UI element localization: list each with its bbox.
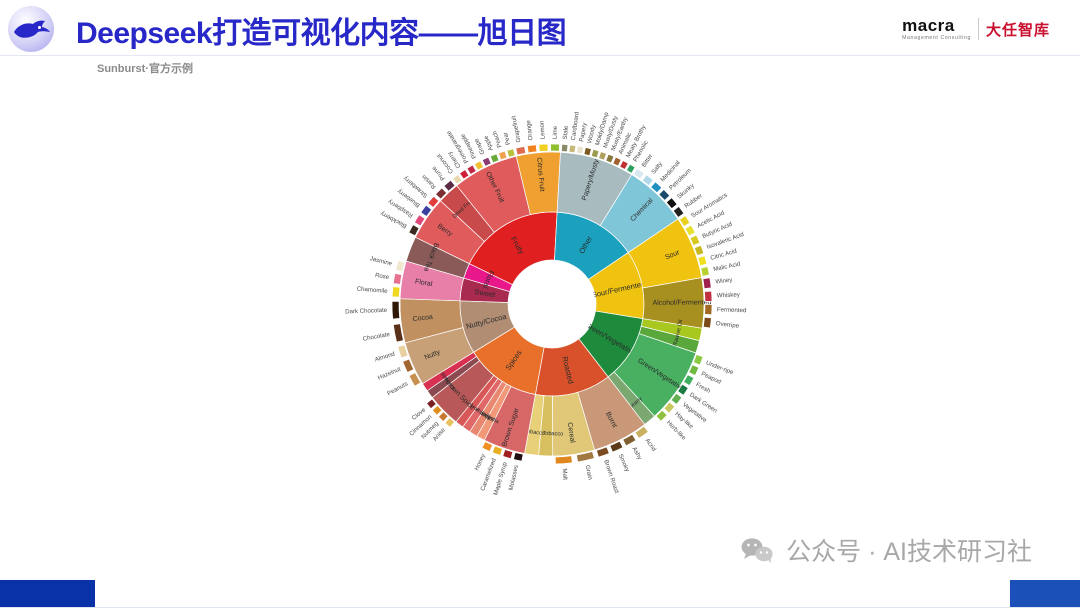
leaf-label: Rose xyxy=(375,272,391,281)
leaf-label: Overripe xyxy=(715,320,740,330)
leaf-label: Acrid xyxy=(644,437,658,452)
leaf-Jasmine[interactable] xyxy=(396,260,405,271)
brand-cn-name: 大任智库 xyxy=(986,19,1050,40)
leaf-label: Molasses xyxy=(508,464,520,491)
brand-tagline: Management Consulting xyxy=(902,36,971,41)
leaf-label: Lime xyxy=(552,125,559,139)
leaf-label: Jasmine xyxy=(369,255,393,267)
footer-bar-right xyxy=(1010,580,1080,608)
leaf-label: Smoky xyxy=(617,453,631,474)
leaf-Malt[interactable] xyxy=(555,456,572,464)
leaf-label: Ashy xyxy=(630,446,643,462)
leaf-label: Winey xyxy=(715,276,734,285)
leaf-label: Hazelnut xyxy=(377,366,402,382)
leaf-label: Orange xyxy=(525,119,535,141)
leaf-label: Grain xyxy=(584,464,594,480)
leaf-Chamomile[interactable] xyxy=(392,287,400,297)
leaf-Meaty Brothy[interactable] xyxy=(620,161,628,170)
brand-wordmark-group: macra Management Consulting xyxy=(902,17,971,41)
leaf-label: Malt xyxy=(561,468,569,480)
leaf-Lime[interactable] xyxy=(551,144,560,151)
leaf-Stale[interactable] xyxy=(561,144,567,151)
brand-divider xyxy=(978,18,979,40)
watermark-label: 公众号 · AI技术研习社 xyxy=(786,532,1032,568)
leaf-label: Stale xyxy=(562,125,570,140)
leaf-Malic Acid[interactable] xyxy=(701,267,710,277)
sunburst-center-hole xyxy=(509,261,595,347)
leaf-Musty/Earthy[interactable] xyxy=(606,154,614,163)
leaf-Whiskey[interactable] xyxy=(705,291,712,301)
leaf-Maple Syrup[interactable] xyxy=(503,450,513,459)
leaf-label: Malic Acid xyxy=(713,261,741,274)
leaf-label: Grapefruit xyxy=(510,115,522,143)
slide-header: Deepseek打造可视化内容——旭日图 Sunburst·官方示例 macra… xyxy=(0,0,1080,56)
footer-bar-left xyxy=(0,580,95,608)
wechat-icon xyxy=(741,537,775,563)
leaf-Apple[interactable] xyxy=(490,154,499,163)
leaf-Pear[interactable] xyxy=(507,149,515,157)
leaf-Grapefruit[interactable] xyxy=(516,146,526,155)
leaf-Woody[interactable] xyxy=(584,148,591,156)
leaf-label: Chocolate xyxy=(362,331,391,343)
wechat-watermark: 公众号 · AI技术研习社 xyxy=(741,532,1032,568)
page-title: Deepseek打造可视化内容——旭日图 xyxy=(76,8,566,52)
leaf-label: Pear xyxy=(502,131,512,145)
leaf-Animalic[interactable] xyxy=(613,157,621,166)
leaf-label: Lemon xyxy=(539,120,547,139)
leaf-Cardboard[interactable] xyxy=(569,145,576,153)
leaf-Dark Chocolate[interactable] xyxy=(392,301,400,319)
leaf-label: Chamomile xyxy=(356,285,388,294)
leaf-label: Salty xyxy=(650,160,664,176)
leaf-Fermented[interactable] xyxy=(705,304,712,314)
leaf-Moldy/Damp[interactable] xyxy=(591,149,599,157)
leaf-Papery[interactable] xyxy=(577,146,584,154)
leaf-label: Dark Chocolate xyxy=(345,307,388,316)
deepseek-whale-icon xyxy=(8,6,54,52)
leaf-label: Whiskey xyxy=(717,291,741,299)
leaf-Lemon[interactable] xyxy=(539,144,548,151)
leaf-label: Brown Roast xyxy=(602,459,620,495)
leaf-label: Citric Acid xyxy=(710,248,738,262)
leaf-Overripe[interactable] xyxy=(703,317,711,328)
leaf-label: Fermented xyxy=(717,306,747,314)
leaf-Citric Acid[interactable] xyxy=(698,256,707,266)
leaf-Molasses[interactable] xyxy=(514,453,524,462)
arc-label: Alcohol/Fermented xyxy=(653,299,712,306)
leaf-Orange[interactable] xyxy=(527,145,537,153)
leaf-label: Fresh xyxy=(694,381,711,395)
leaf-Musty/Dusty[interactable] xyxy=(599,152,607,161)
leaf-label: Peanuts xyxy=(386,380,409,397)
chart-area: FruityBerryBlackberryRaspberryBlueberryS… xyxy=(0,56,1080,536)
leaf-Rose[interactable] xyxy=(393,273,401,284)
leaf-Peach[interactable] xyxy=(499,151,507,160)
leaf-label: Honey xyxy=(473,452,487,472)
leaf-label: Almond xyxy=(374,351,396,364)
brand-wordmark: macra xyxy=(902,17,955,34)
brand-logo: macra Management Consulting 大任智库 xyxy=(902,14,1050,44)
sunburst-chart[interactable]: FruityBerryBlackberryRaspberryBlueberryS… xyxy=(330,76,775,531)
leaf-Winey[interactable] xyxy=(703,278,711,289)
